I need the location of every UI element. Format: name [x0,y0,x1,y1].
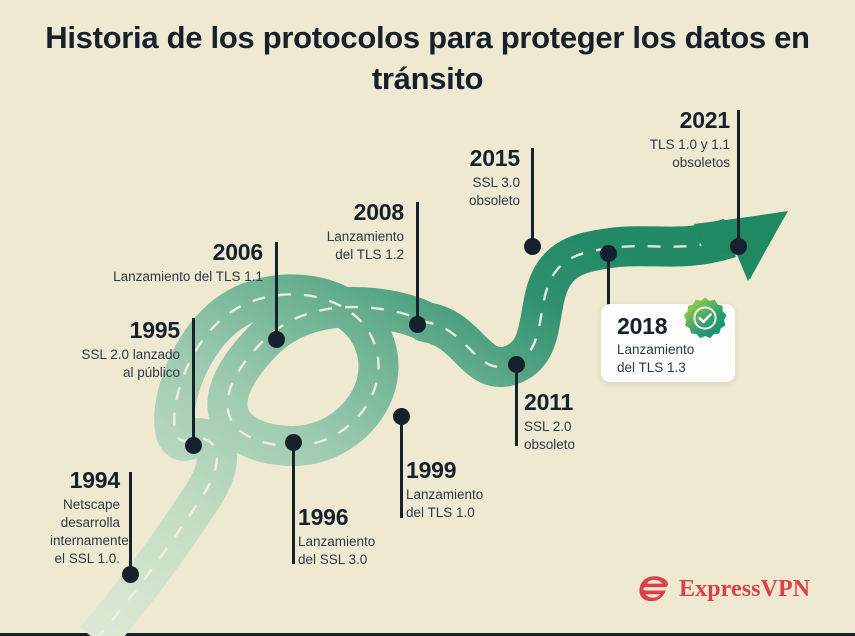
timeline-infographic: Historia de los protocolos para proteger… [0,0,855,636]
milestone-year: 2008 [300,200,404,225]
milestone-desc: Lanzamiento del SSL 3.0 [298,533,418,569]
milestone-year: 1994 [50,468,120,493]
milestone-label-1999: 1999 Lanzamiento del TLS 1.0 [406,458,526,522]
check-badge-icon [683,296,727,340]
milestone-stem-2008 [416,202,419,322]
milestone-desc: TLS 1.0 y 1.1 obsoletos [630,136,730,172]
milestone-stem-2006 [275,242,278,337]
milestone-label-2015: 2015 SSL 3.0 obsoleto [428,146,520,210]
milestone-desc: SSL 2.0 obsoleto [524,418,634,454]
milestone-label-2006: 2006 Lanzamiento del TLS 1.1 [110,240,263,286]
milestone-year: 2021 [630,108,730,133]
milestone-label-2021: 2021 TLS 1.0 y 1.1 obsoletos [630,108,730,172]
milestone-desc: Lanzamiento del TLS 1.3 [617,341,694,377]
milestone-desc: Lanzamiento del TLS 1.2 [300,228,404,264]
milestone-year: 1999 [406,458,526,483]
milestone-year: 2006 [110,240,263,265]
milestone-stem-2021 [737,110,740,244]
milestone-desc: Lanzamiento del TLS 1.1 [110,268,263,286]
milestone-stem-1996 [292,442,295,564]
milestone-label-1995: 1995 SSL 2.0 lanzado al público [52,318,180,382]
milestone-desc: SSL 3.0 obsoleto [428,174,520,210]
expressvpn-e-icon [637,572,671,606]
milestone-desc: Lanzamiento del TLS 1.0 [406,486,526,522]
milestone-stem-1994 [129,472,132,572]
milestone-stem-2015 [531,148,534,244]
expressvpn-logo[interactable]: ExpressVPN [637,572,810,606]
milestone-year: 2015 [428,146,520,171]
milestone-year: 2018 [617,313,667,340]
milestone-stem-1999 [400,416,403,518]
milestone-year: 2011 [524,390,634,415]
milestone-year: 1995 [52,318,180,343]
milestone-label-2008: 2008 Lanzamiento del TLS 1.2 [300,200,404,264]
milestone-desc: SSL 2.0 lanzado al público [52,346,180,382]
milestone-label-1994: 1994 Netscape desarrolla internamente el… [50,468,120,568]
milestone-desc: Netscape desarrolla internamente el SSL … [50,496,120,568]
logo-wordmark: ExpressVPN [679,576,810,603]
milestone-label-2011: 2011 SSL 2.0 obsoleto [524,390,634,454]
milestone-stem-2011 [515,364,518,446]
milestone-stem-1995 [192,318,195,444]
